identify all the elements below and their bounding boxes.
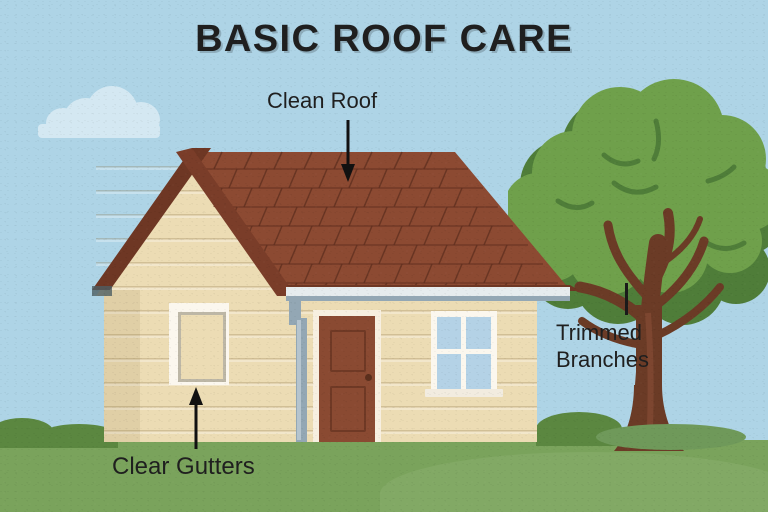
- window-mullion-horizontal: [437, 349, 491, 354]
- label-trimmed-branches-line2: Branches: [556, 347, 649, 374]
- tree-base-shadow: [596, 424, 746, 450]
- label-trimmed-branches: Trimmed Branches: [556, 320, 649, 374]
- tree-canopy-front: [508, 79, 768, 295]
- arrow-up-clear-gutters: [186, 385, 206, 451]
- downspout-highlight: [297, 320, 301, 440]
- leader-line-trimmed-branches: [625, 283, 628, 315]
- door-panel-upper: [330, 330, 366, 372]
- window-left-opening: [178, 312, 226, 382]
- gutter-lip: [286, 296, 570, 301]
- label-trimmed-branches-line1: Trimmed: [556, 320, 649, 347]
- window-right-sill: [425, 389, 503, 397]
- wall-shadow: [104, 290, 140, 442]
- tree: [508, 55, 768, 455]
- door-panel-lower: [330, 386, 366, 432]
- arrow-down-clean-roof: [338, 118, 358, 184]
- label-clean-roof: Clean Roof: [267, 88, 377, 115]
- cloud-base: [38, 124, 160, 138]
- tree-graphic: [508, 55, 768, 455]
- illustration-canvas: BASIC ROOF CARE Clean Roof Trimmed Branc…: [0, 0, 768, 512]
- house-gable-wall: [96, 146, 296, 296]
- door-knob[interactable]: [365, 374, 372, 381]
- gutter: [286, 287, 570, 296]
- page-title: BASIC ROOF CARE: [0, 18, 768, 61]
- gable-shape: [96, 146, 296, 296]
- label-clear-gutters: Clear Gutters: [112, 452, 255, 481]
